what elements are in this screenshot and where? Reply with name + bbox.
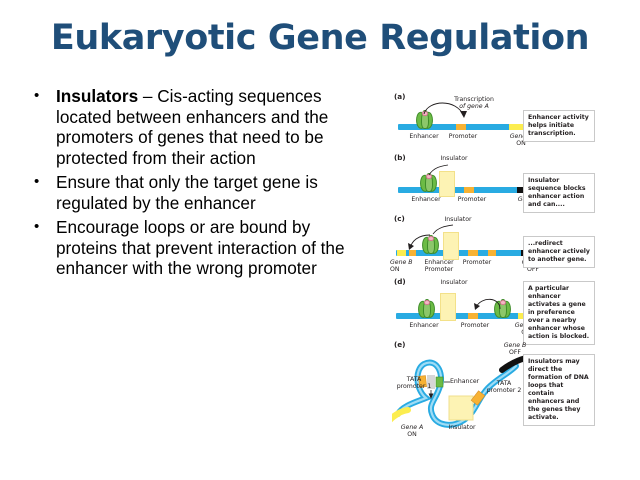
insulator-label: Insulator [440,424,484,431]
promoter-label: Promoter [440,133,486,140]
enhancer-protein-icon [418,299,435,318]
panel-letter-d: (d) [394,277,406,286]
insulator-label: Insulator [434,216,482,223]
slide-canvas: Eukaryotic Gene Regulation Insulators – … [0,0,640,480]
callout-d: A particular enhancer activates a gene i… [523,281,595,345]
promoter-segment [464,187,474,193]
redirect-arrow-icon [406,233,432,253]
list-item: Insulators – Cis-acting sequences locate… [26,86,371,168]
bullet-text: Encourage loops or are bound by proteins… [56,217,345,278]
list-item: Encourage loops or are bound by proteins… [26,217,371,279]
insulator-leader-line [428,163,452,177]
bullet-lead-term: Insulators [56,86,138,106]
transcription-label: Transcription of gene A [444,96,504,111]
bullet-list: Insulators – Cis-acting sequences locate… [26,86,371,283]
promoter-label: Promoter [449,196,495,203]
insulator-label: Insulator [430,155,478,162]
insulator-block [443,232,459,260]
enhancer-label: Enhancer [402,196,450,203]
insulator-label: Insulator [430,279,478,286]
activation-arrow-icon [472,295,504,315]
page-title: Eukaryotic Gene Regulation [0,18,640,58]
promoter-segment [468,250,478,256]
callout-b: Insulator sequence blocks enhancer actio… [523,173,595,213]
tata-promoter-1-label: TATA promoter 1 [390,376,438,391]
panel-letter-b: (b) [394,153,406,162]
figure-panel-c: (c) Insulator Gene B ON [392,214,636,276]
gene-b-segment [397,250,406,256]
figure-panel-e: (e) [392,340,636,462]
panel-letter-c: (c) [394,214,405,223]
figure-panel-a: (a) Transcription of gene A Enhancer Pro… [392,92,636,152]
list-item: Ensure that only the target gene is regu… [26,172,371,213]
figure-panel-b: (b) Insulator Enhancer Promoter Gene A O… [392,153,636,213]
enhancer-label: Enhancer [400,322,448,329]
tata-promoter-2-label: TATA promoter 2 [480,380,528,395]
gene-a-label: Gene A ON [394,424,430,439]
promoter-label: Promoter [452,322,498,329]
insulator-figure: (a) Transcription of gene A Enhancer Pro… [392,92,636,467]
panel-letter-a: (a) [394,92,405,101]
insulator-block [440,293,456,321]
promoter-label: Promoter [454,259,500,266]
callout-c: ...redirect enhancer actively to another… [523,236,595,268]
callout-a: Enhancer activity helps initiate transcr… [523,110,595,142]
bullet-text: Ensure that only the target gene is regu… [56,172,318,213]
insulator-leader-line [432,224,456,236]
promoter-extra-segment [488,250,496,256]
figure-panel-d: (d) Insulator Enhancer Promoter Gene A O… [392,277,636,339]
callout-e: Insulators may direct the formation of D… [523,354,595,426]
